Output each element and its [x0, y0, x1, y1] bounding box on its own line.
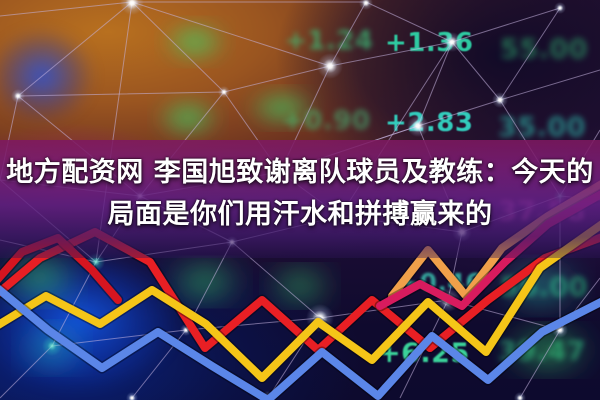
headline: 地方配资网 李国旭致谢离队球员及教练：今天的 局面是你们用汗水和拼搏赢来的 [0, 152, 600, 236]
headline-line-2: 局面是你们用汗水和拼搏赢来的 [0, 194, 600, 236]
thumbnail-canvas: +1.36+2.83+6.25+0.46+1.24+0.9055.0035.00… [0, 0, 600, 400]
headline-line-1: 地方配资网 李国旭致谢离队球员及教练：今天的 [0, 152, 600, 194]
